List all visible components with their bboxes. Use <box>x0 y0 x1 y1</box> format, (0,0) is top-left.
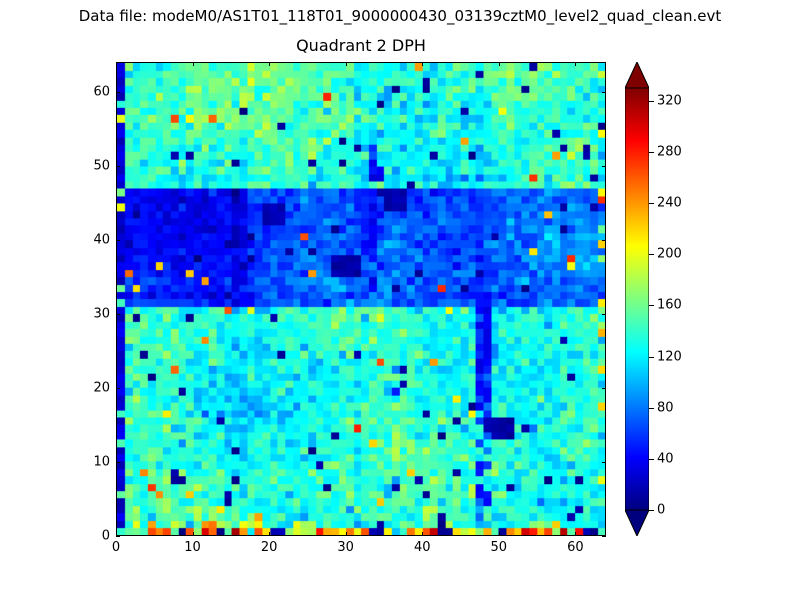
colorbar-tick-label: 240 <box>657 196 682 211</box>
y-axis-tick-label: 30 <box>93 306 110 321</box>
y-axis-tick-label: 50 <box>93 158 110 173</box>
colorbar-tick-label: 160 <box>657 298 682 313</box>
colorbar-tick <box>649 254 654 255</box>
x-axis-tick-top <box>575 62 576 66</box>
x-axis-tick-top <box>269 62 270 66</box>
x-axis-tick-label: 40 <box>414 540 431 555</box>
x-axis-tick-label: 10 <box>184 540 201 555</box>
colorbar-tick <box>649 152 654 153</box>
y-axis-tick-right <box>602 314 606 315</box>
y-axis-tick-right <box>602 536 606 537</box>
colorbar-tick <box>649 510 654 511</box>
colorbar-tick-label: 0 <box>657 503 665 518</box>
x-axis-tick <box>575 532 576 536</box>
y-axis-tick-label: 0 <box>102 529 110 544</box>
y-axis-tick <box>116 92 120 93</box>
x-axis-tick <box>346 532 347 536</box>
x-axis-tick-label: 20 <box>261 540 278 555</box>
colorbar-tick <box>649 459 654 460</box>
x-axis-tick <box>422 532 423 536</box>
x-axis-tick-top <box>499 62 500 66</box>
y-axis-tick-right <box>602 240 606 241</box>
colorbar-tick-label: 80 <box>657 400 674 415</box>
colorbar-tick <box>649 203 654 204</box>
colorbar-min-arrow <box>625 510 649 536</box>
colorbar-tick <box>649 101 654 102</box>
y-axis-tick <box>116 240 120 241</box>
colorbar-tick-label: 200 <box>657 247 682 262</box>
y-axis-tick-right <box>602 388 606 389</box>
y-axis-tick <box>116 536 120 537</box>
x-axis-tick <box>193 532 194 536</box>
x-axis-tick-label: 0 <box>112 540 120 555</box>
y-axis-tick-label: 40 <box>93 232 110 247</box>
x-axis-tick-label: 50 <box>491 540 508 555</box>
colorbar-tick-label: 320 <box>657 93 682 108</box>
y-axis-tick <box>116 314 120 315</box>
detector-heatmap-image[interactable] <box>117 63 605 535</box>
y-axis-tick <box>116 462 120 463</box>
colorbar-tick <box>649 305 654 306</box>
y-axis-tick-label: 60 <box>93 84 110 99</box>
x-axis-tick-label: 60 <box>567 540 584 555</box>
colorbar-tick <box>649 357 654 358</box>
y-axis-tick-label: 20 <box>93 380 110 395</box>
colorbar[interactable] <box>625 62 649 536</box>
x-axis-tick-label: 30 <box>337 540 354 555</box>
y-axis-tick <box>116 388 120 389</box>
y-axis-tick-label: 10 <box>93 454 110 469</box>
colorbar-tick-label: 40 <box>657 451 674 466</box>
x-axis-tick-top <box>346 62 347 66</box>
y-axis-tick-right <box>602 166 606 167</box>
x-axis-tick <box>499 532 500 536</box>
colorbar-gradient <box>625 62 649 536</box>
y-axis-tick-right <box>602 462 606 463</box>
data-file-suptitle: Data file: modeM0/AS1T01_118T01_90000004… <box>0 7 800 25</box>
colorbar-tick-label: 120 <box>657 349 682 364</box>
x-axis-tick-top <box>193 62 194 66</box>
x-axis-tick <box>269 532 270 536</box>
figure-canvas: Data file: modeM0/AS1T01_118T01_90000004… <box>0 0 800 600</box>
y-axis-tick <box>116 166 120 167</box>
y-axis-tick-right <box>602 92 606 93</box>
x-axis-tick-top <box>422 62 423 66</box>
heatmap-axes[interactable] <box>116 62 606 536</box>
x-axis-tick-top <box>116 62 117 66</box>
colorbar-tick <box>649 408 654 409</box>
colorbar-max-arrow <box>625 62 649 88</box>
plot-title: Quadrant 2 DPH <box>116 36 606 55</box>
colorbar-tick-label: 280 <box>657 144 682 159</box>
